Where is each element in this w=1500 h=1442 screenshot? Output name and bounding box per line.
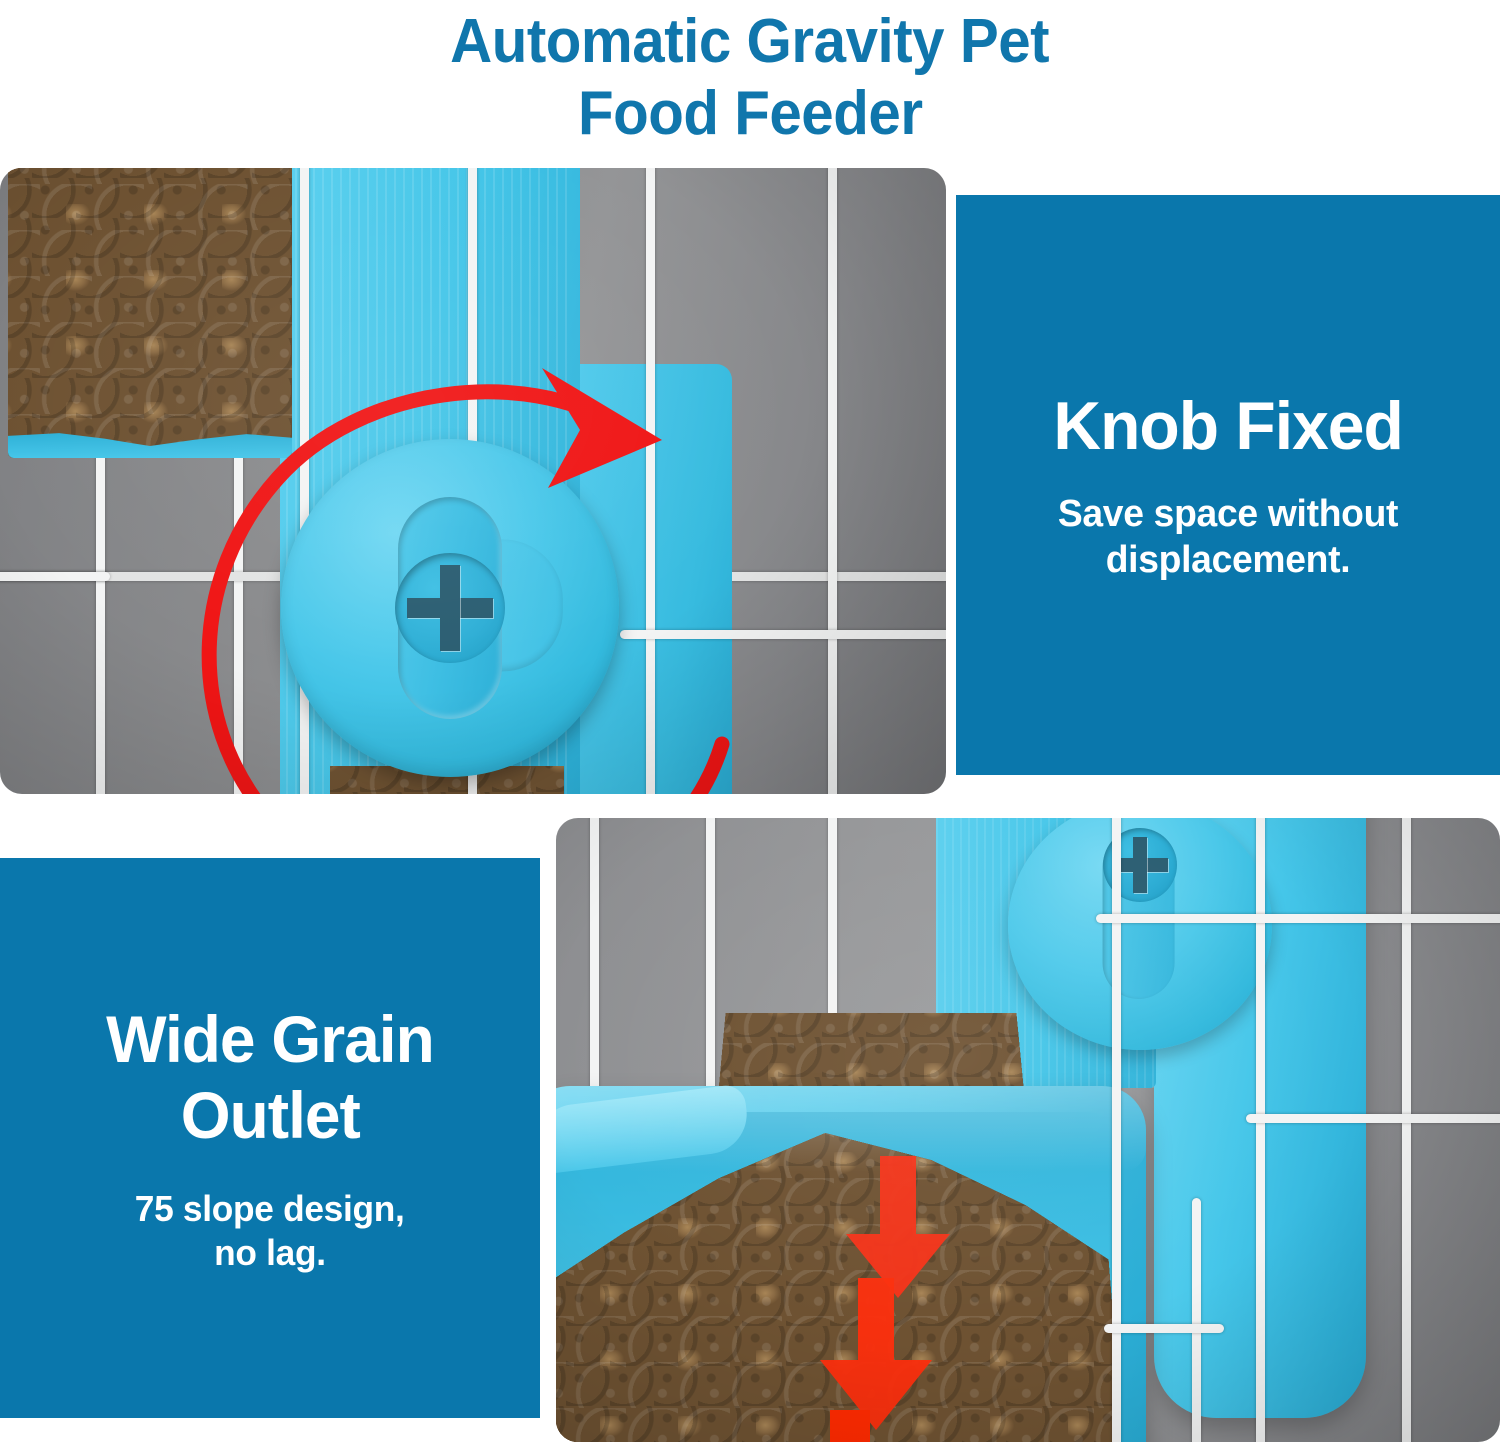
knob-photo-scene xyxy=(0,168,946,794)
cage-wire-vertical xyxy=(828,168,837,794)
page-title: Automatic Gravity Pet Food Feeder xyxy=(0,6,1500,158)
feeder-knob[interactable] xyxy=(281,439,619,777)
wide-grain-outlet-card: Wide Grain Outlet 75 slope design, no la… xyxy=(0,858,540,1418)
cross-slot-vertical xyxy=(1133,837,1147,893)
outlet-subtext-line-1: 75 slope design, xyxy=(135,1187,405,1231)
food-flow-arrow-icon xyxy=(766,1148,1046,1442)
cage-wire-horizontal xyxy=(1246,1114,1500,1123)
kibble-fill xyxy=(8,168,292,458)
outlet-subtext-line-2: no lag. xyxy=(214,1231,326,1275)
cage-wire-horizontal xyxy=(1096,914,1500,923)
cage-wire-vertical xyxy=(1402,818,1411,1442)
outlet-heading-line-1: Wide Grain xyxy=(106,1001,434,1077)
cage-wire-horizontal xyxy=(1104,1324,1224,1333)
knob-fixed-card: Knob Fixed Save space without displaceme… xyxy=(956,195,1500,775)
cage-wire-horizontal xyxy=(620,630,946,639)
cage-wire-vertical xyxy=(1112,818,1121,1442)
knob-fixed-heading: Knob Fixed xyxy=(1053,387,1402,465)
hopper-food-window xyxy=(8,168,292,458)
title-line-1: Automatic Gravity Pet xyxy=(450,6,1049,78)
outlet-photo-scene xyxy=(556,818,1500,1442)
knob-cross-socket xyxy=(395,553,505,663)
cage-wire-vertical xyxy=(646,168,655,794)
knob-fixed-subtext: Save space without displacement. xyxy=(985,491,1471,583)
outlet-photo-panel xyxy=(556,818,1500,1442)
cage-wire-vertical xyxy=(1256,818,1265,1442)
cage-wire-horizontal xyxy=(0,572,110,581)
cross-slot-vertical xyxy=(440,565,460,651)
outlet-heading-line-2: Outlet xyxy=(180,1077,359,1153)
cage-wire-vertical xyxy=(1192,1198,1201,1442)
title-line-2: Food Feeder xyxy=(578,78,923,150)
knob-photo-panel xyxy=(0,168,946,794)
